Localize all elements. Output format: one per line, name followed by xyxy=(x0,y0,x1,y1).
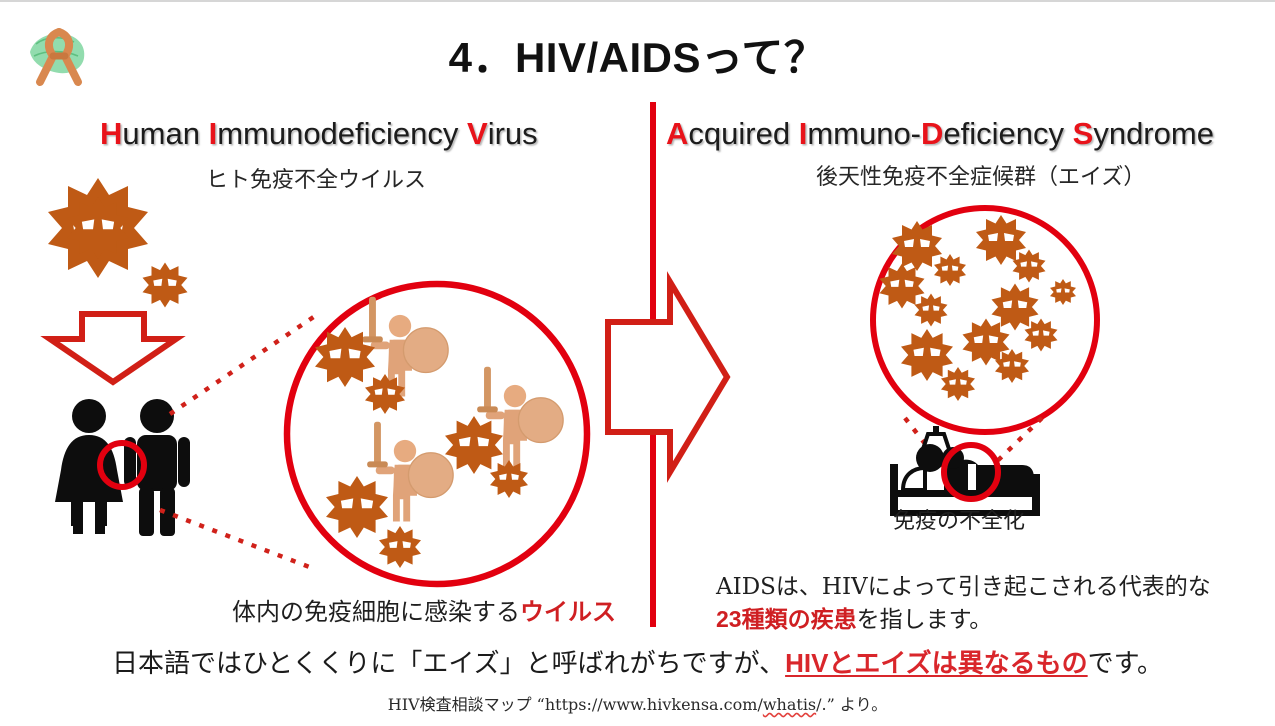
virus-group-left-circle xyxy=(315,327,528,568)
aids-description-highlight: 23種類の疾患 xyxy=(716,606,857,632)
summary-normal-2: です。 xyxy=(1088,649,1163,679)
source-prefix: HIV検査相談マップ “https://www.hivkensa.com/ xyxy=(388,695,763,714)
virus-cluster-top-left xyxy=(48,178,148,278)
down-arrow-outline-icon xyxy=(50,314,176,382)
right-arrow-outline-icon xyxy=(608,282,727,472)
immune-cell-group xyxy=(362,297,563,522)
hiv-heading-japanese: ヒト免疫不全ウイルス xyxy=(206,162,426,194)
hiv-heading-english: Human Immunodeficiency Virus xyxy=(100,116,538,152)
source-spellcheck-word: whatis xyxy=(763,695,816,714)
left-caption-highlight: ウイルス xyxy=(520,599,616,626)
zoom-guide-lines-left xyxy=(160,314,318,568)
aids-description-line1: AIDSは、HIVによって引き起こされる代表的な xyxy=(716,574,1211,600)
summary-statement: 日本語ではひとくくりに「エイズ」と呼ばれがちですが、HIVとエイズは異なるもので… xyxy=(0,643,1275,680)
aids-heading-japanese: 後天性免疫不全症候群（エイズ） xyxy=(816,159,1145,191)
immune-failure-highlight-circle xyxy=(944,445,998,499)
summary-normal-1: 日本語ではひとくくりに「エイズ」と呼ばれがちですが、 xyxy=(112,649,785,679)
virus-group-right-circle xyxy=(880,215,1077,401)
aids-description: AIDSは、HIVによって引き起こされる代表的な 23種類の疾患を指します。 xyxy=(716,572,1236,636)
magnified-circle-left xyxy=(287,284,587,584)
left-caption: 体内の免疫細胞に感染するウイルス xyxy=(232,596,616,629)
left-caption-normal: 体内の免疫細胞に感染する xyxy=(232,598,520,626)
bed-caption: 免疫の不全化 xyxy=(893,507,1025,537)
source-citation: HIV検査相談マップ “https://www.hivkensa.com/wha… xyxy=(0,691,1275,715)
slide-canvas: 4．HIV/AIDSって？ Human Immunodeficiency Vir… xyxy=(0,0,1275,724)
two-people-pictogram-icon xyxy=(55,399,190,536)
aids-description-tail: を指します。 xyxy=(857,607,993,633)
patient-in-hospital-bed-icon xyxy=(890,426,1040,516)
transmission-highlight-circle xyxy=(100,443,144,487)
page-title: 4．HIV/AIDSって？ xyxy=(0,24,1275,85)
summary-highlight: HIVとエイズは異なるもの xyxy=(785,648,1088,678)
aids-heading-english: Acquired Immuno-Deficiency Syndrome xyxy=(666,116,1214,152)
magnified-circle-right xyxy=(873,208,1097,432)
zoom-guide-lines-right xyxy=(905,418,1042,468)
source-suffix: /.” より。 xyxy=(816,695,887,714)
